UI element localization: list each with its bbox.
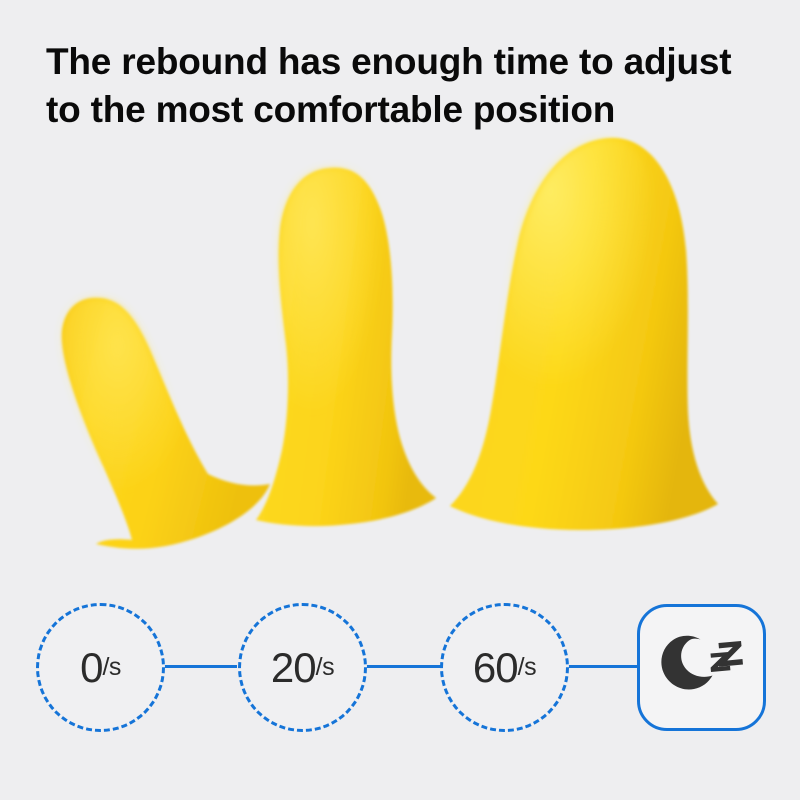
- timeline-node-20s-unit: /s: [316, 653, 334, 682]
- timeline-node-60s[interactable]: 60/s: [440, 603, 569, 732]
- timeline-connector-3: [568, 665, 639, 668]
- timeline-connector-2: [366, 665, 441, 668]
- timeline-node-0s[interactable]: 0/s: [36, 603, 165, 732]
- sleep-moon-zz-icon: [656, 633, 748, 703]
- earplug-compressed: [62, 298, 270, 549]
- timeline-node-0s-value: 0: [80, 647, 102, 689]
- timeline-node-0s-unit: /s: [102, 653, 120, 682]
- page-canvas: The rebound has enough time to adjust to…: [0, 0, 800, 800]
- timeline-node-20s-value: 20: [271, 647, 316, 689]
- earplug-partially-expanded: [256, 168, 436, 526]
- earplug-illustration: [0, 120, 800, 580]
- timeline-node-60s-value: 60: [473, 647, 518, 689]
- page-title-line-1: The rebound has enough time to adjust: [46, 38, 766, 86]
- timeline-connector-1: [164, 665, 237, 668]
- timeline-node-20s[interactable]: 20/s: [238, 603, 367, 732]
- earplug-fully-expanded: [450, 138, 718, 530]
- timeline-node-sleep[interactable]: [637, 604, 766, 731]
- timeline-node-60s-unit: /s: [518, 653, 536, 682]
